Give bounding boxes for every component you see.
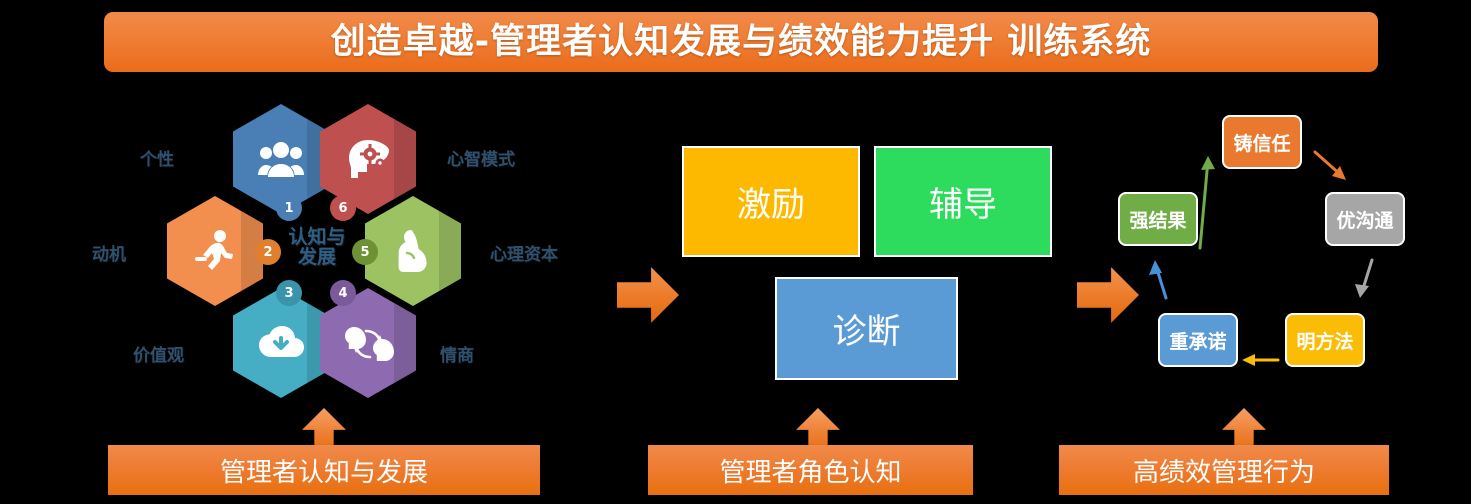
hex-center-line-2: 发展: [281, 248, 353, 268]
hexagon-badge-1: 1: [276, 195, 302, 221]
mid-box-incentive[interactable]: 激励: [682, 146, 860, 257]
cycle-node-commitment[interactable]: 重承诺: [1158, 313, 1238, 367]
hex-center-label: 认知与 发展: [281, 228, 353, 268]
hexagon-label-mental-model: 心智模式: [447, 145, 515, 170]
up-arrow-mid: [796, 408, 840, 450]
hex-shade: [439, 196, 461, 306]
bottom-bar-manager-role-cognition[interactable]: 管理者角色认知: [648, 445, 973, 495]
hexagon-label-emotional-intelligence: 情商: [440, 341, 474, 366]
hexagon-4-emotional-intelligence[interactable]: [320, 288, 416, 398]
two-heads-exchange-icon: [342, 321, 394, 365]
cycle-node-communication[interactable]: 优沟通: [1325, 192, 1405, 246]
mid-box-coaching[interactable]: 辅导: [874, 146, 1052, 257]
hexagon-3-values[interactable]: [233, 288, 329, 398]
slide-title-bar: 创造卓越-管理者认知发展与绩效能力提升 训练系统: [104, 12, 1378, 72]
flexed-bicep-icon: [393, 228, 433, 274]
cycle-arrow-communication-to-method: [1355, 260, 1372, 298]
cycle-arrow-commitment-to-results: [1149, 260, 1166, 298]
mid-box-diagnosis[interactable]: 诊断: [775, 277, 958, 380]
cycle-node-method[interactable]: 明方法: [1285, 313, 1365, 367]
cloud-download-icon: [257, 324, 305, 362]
hexagon-badge-2: 2: [255, 239, 281, 265]
bottom-bar-high-performance-behavior[interactable]: 高绩效管理行为: [1059, 445, 1389, 495]
cycle-arrow-trust-to-communication: [1315, 152, 1346, 180]
hexagon-label-personality: 个性: [140, 145, 174, 170]
cycle-arrow-results-to-trust: [1200, 156, 1215, 248]
hexagon-label-psychological-capital: 心理资本: [490, 240, 558, 265]
hexagon-badge-3: 3: [276, 280, 302, 306]
page-title: 创造卓越-管理者认知发展与绩效能力提升 训练系统: [331, 25, 1152, 60]
bottom-bar-manager-cognition-development[interactable]: 管理者认知与发展: [108, 445, 540, 495]
arrow-left-to-mid: [617, 266, 679, 324]
hexagon-badge-4: 4: [330, 280, 356, 306]
cycle-node-results[interactable]: 强结果: [1118, 192, 1198, 246]
hexagon-5-psychological-capital[interactable]: [365, 196, 461, 306]
head-gears-icon: [344, 138, 392, 180]
hexagon-2-motivation[interactable]: [167, 196, 263, 306]
hex-center-line-1: 认知与: [281, 228, 353, 248]
slide-canvas: 创造卓越-管理者认知发展与绩效能力提升 训练系统 1 个性: [0, 0, 1471, 504]
group-people-icon: [258, 139, 304, 179]
hexagon-label-motivation: 动机: [92, 240, 126, 265]
up-arrow-left: [302, 408, 346, 450]
cycle-arrow-method-to-commitment: [1242, 354, 1278, 366]
cycle-node-trust[interactable]: 铸信任: [1222, 115, 1302, 169]
hexagon-badge-5: 5: [352, 239, 378, 265]
running-person-icon: [194, 229, 236, 273]
hexagon-badge-6: 6: [330, 195, 356, 221]
hexagon-label-values: 价值观: [133, 341, 184, 366]
up-arrow-right: [1222, 408, 1266, 450]
